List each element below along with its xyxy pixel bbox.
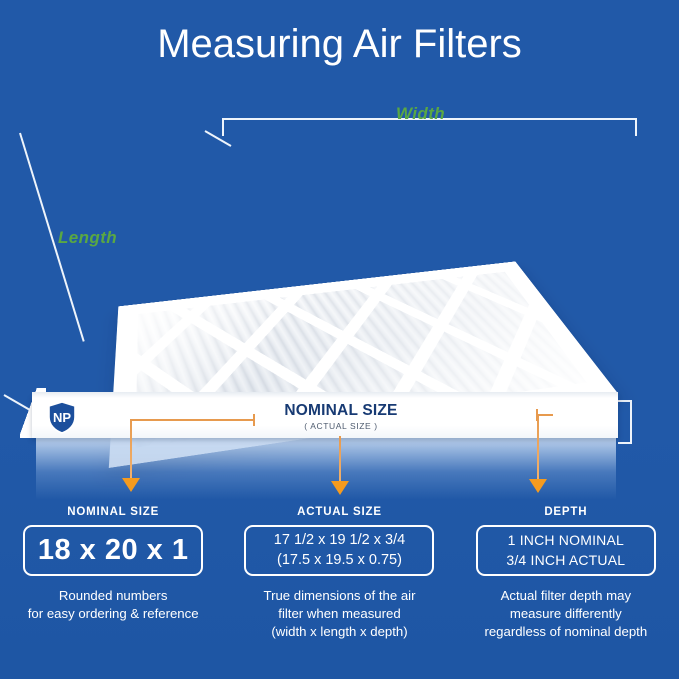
column-depth-value: 1 INCH NOMINAL [508, 531, 624, 550]
page-title: Measuring Air Filters [0, 22, 679, 66]
logo-text: NP [53, 410, 71, 425]
actual-arrow-stem [339, 436, 341, 484]
column-actual-description: True dimensions of the air filter when m… [234, 587, 444, 642]
desc-line: True dimensions of the air [234, 587, 444, 605]
column-nominal-heading: NOMINAL SIZE [8, 506, 218, 518]
column-actual-heading: ACTUAL SIZE [234, 506, 444, 518]
desc-line: filter when measured [234, 605, 444, 623]
depth-leader-horizontal [537, 414, 553, 416]
np-shield-logo: NP [47, 401, 77, 434]
desc-line: Rounded numbers [8, 587, 218, 605]
column-nominal-description: Rounded numbers for easy ordering & refe… [8, 587, 218, 623]
column-depth: DEPTH 1 INCH NOMINAL 3/4 INCH ACTUAL Act… [453, 506, 679, 679]
desc-line: measure differently [461, 605, 671, 623]
column-actual-value-box: 17 1/2 x 19 1/2 x 3/4 (17.5 x 19.5 x 0.7… [244, 525, 434, 576]
column-actual-value-2: (17.5 x 19.5 x 0.75) [277, 551, 402, 570]
nominal-arrow-head [122, 478, 140, 492]
column-depth-description: Actual filter depth may measure differen… [461, 587, 671, 642]
column-nominal-value-box: 18 x 20 x 1 [23, 525, 203, 576]
air-filter-illustration [0, 118, 679, 438]
column-nominal-size: NOMINAL SIZE 18 x 20 x 1 Rounded numbers… [0, 506, 226, 679]
column-nominal-value: 18 x 20 x 1 [38, 534, 189, 567]
band-nominal-title: NOMINAL SIZE [258, 402, 424, 420]
depth-arrow-stem [537, 414, 539, 482]
band-nominal-subtitle: ( ACTUAL SIZE ) [258, 421, 424, 431]
filter-band-top-shade [32, 392, 618, 398]
band-nominal-size-caption: NOMINAL SIZE ( ACTUAL SIZE ) [258, 402, 424, 431]
column-depth-value-box: 1 INCH NOMINAL 3/4 INCH ACTUAL [476, 525, 656, 576]
desc-line: Actual filter depth may [461, 587, 671, 605]
nominal-arrow-stem [130, 419, 132, 481]
nominal-leader-tick [253, 414, 255, 426]
column-depth-heading: DEPTH [461, 506, 671, 518]
desc-line: for easy ordering & reference [8, 605, 218, 623]
infographic-canvas: Measuring Air Filters Width Length Depth [0, 0, 679, 679]
column-depth-value-2: 3/4 INCH ACTUAL [506, 551, 625, 570]
info-columns: NOMINAL SIZE 18 x 20 x 1 Rounded numbers… [0, 506, 679, 679]
actual-arrow-head [331, 481, 349, 495]
shield-icon: NP [47, 401, 77, 434]
nominal-leader-horizontal [130, 419, 254, 421]
depth-arrow-head [529, 479, 547, 493]
desc-line: regardless of nominal depth [461, 623, 671, 641]
column-actual-size: ACTUAL SIZE 17 1/2 x 19 1/2 x 3/4 (17.5 … [226, 506, 452, 679]
column-actual-value: 17 1/2 x 19 1/2 x 3/4 [274, 531, 405, 550]
desc-line: (width x length x depth) [234, 623, 444, 641]
